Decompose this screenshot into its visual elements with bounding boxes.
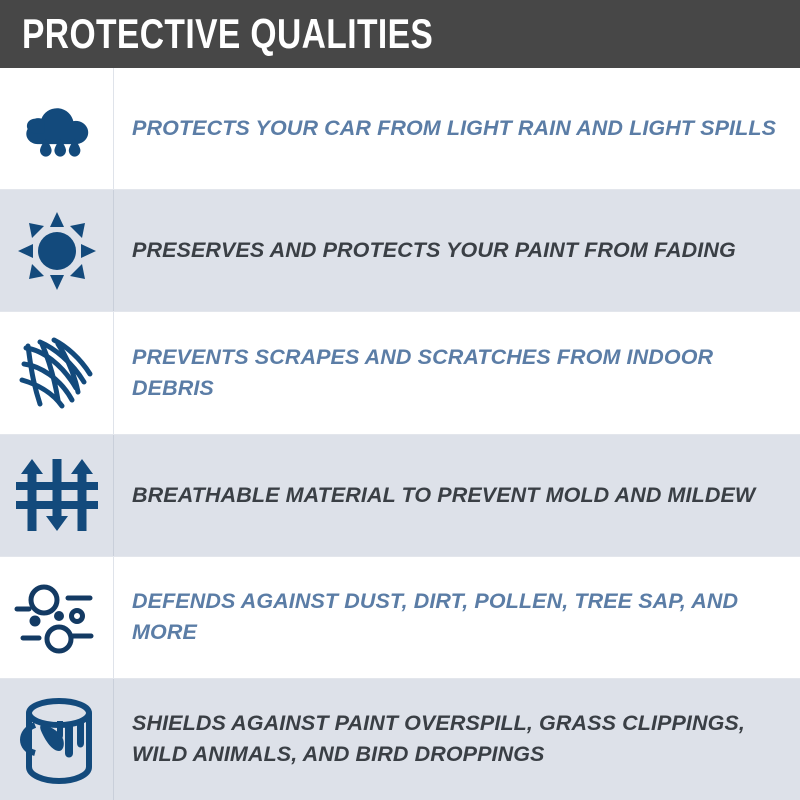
page-title: PROTECTIVE QUALITIES	[22, 13, 433, 55]
feature-text: Defends against dust, dirt, pollen, tree…	[132, 586, 778, 648]
feature-row: Breathable material to prevent mold and …	[0, 435, 800, 557]
feature-row: Prevents scrapes and scratches from indo…	[0, 312, 800, 434]
text-cell: Breathable material to prevent mold and …	[114, 435, 800, 556]
breathable-airflow-icon	[14, 455, 100, 535]
text-cell: Protects your car from light rain and li…	[114, 68, 800, 189]
sun-icon	[16, 210, 98, 292]
feature-text: Breathable material to prevent mold and …	[132, 480, 755, 511]
feature-row: Protects your car from light rain and li…	[0, 68, 800, 190]
icon-cell	[0, 68, 113, 189]
feature-text: Protects your car from light rain and li…	[132, 113, 776, 144]
text-cell: Shields against paint overspill, grass c…	[114, 679, 800, 800]
text-cell: Preserves and protects your paint from f…	[114, 190, 800, 311]
icon-cell	[0, 312, 113, 433]
icon-cell	[0, 557, 113, 678]
paint-can-icon	[13, 691, 101, 787]
dust-particles-icon	[11, 576, 103, 658]
feature-text: Shields against paint overspill, grass c…	[132, 708, 778, 770]
feature-text: Preserves and protects your paint from f…	[132, 235, 736, 266]
feature-list: Protects your car from light rain and li…	[0, 68, 800, 800]
feature-row: Shields against paint overspill, grass c…	[0, 679, 800, 800]
text-cell: Defends against dust, dirt, pollen, tree…	[114, 557, 800, 678]
mesh-net-icon	[14, 330, 100, 416]
icon-cell	[0, 679, 113, 800]
rain-cloud-icon	[18, 90, 96, 168]
icon-cell	[0, 435, 113, 556]
protective-qualities-infographic: PROTECTIVE QUALITIES	[0, 0, 800, 800]
text-cell: Prevents scrapes and scratches from indo…	[114, 312, 800, 433]
header-bar: PROTECTIVE QUALITIES	[0, 0, 800, 68]
icon-cell	[0, 190, 113, 311]
feature-text: Prevents scrapes and scratches from indo…	[132, 342, 778, 404]
feature-row: Preserves and protects your paint from f…	[0, 190, 800, 312]
feature-row: Defends against dust, dirt, pollen, tree…	[0, 557, 800, 679]
